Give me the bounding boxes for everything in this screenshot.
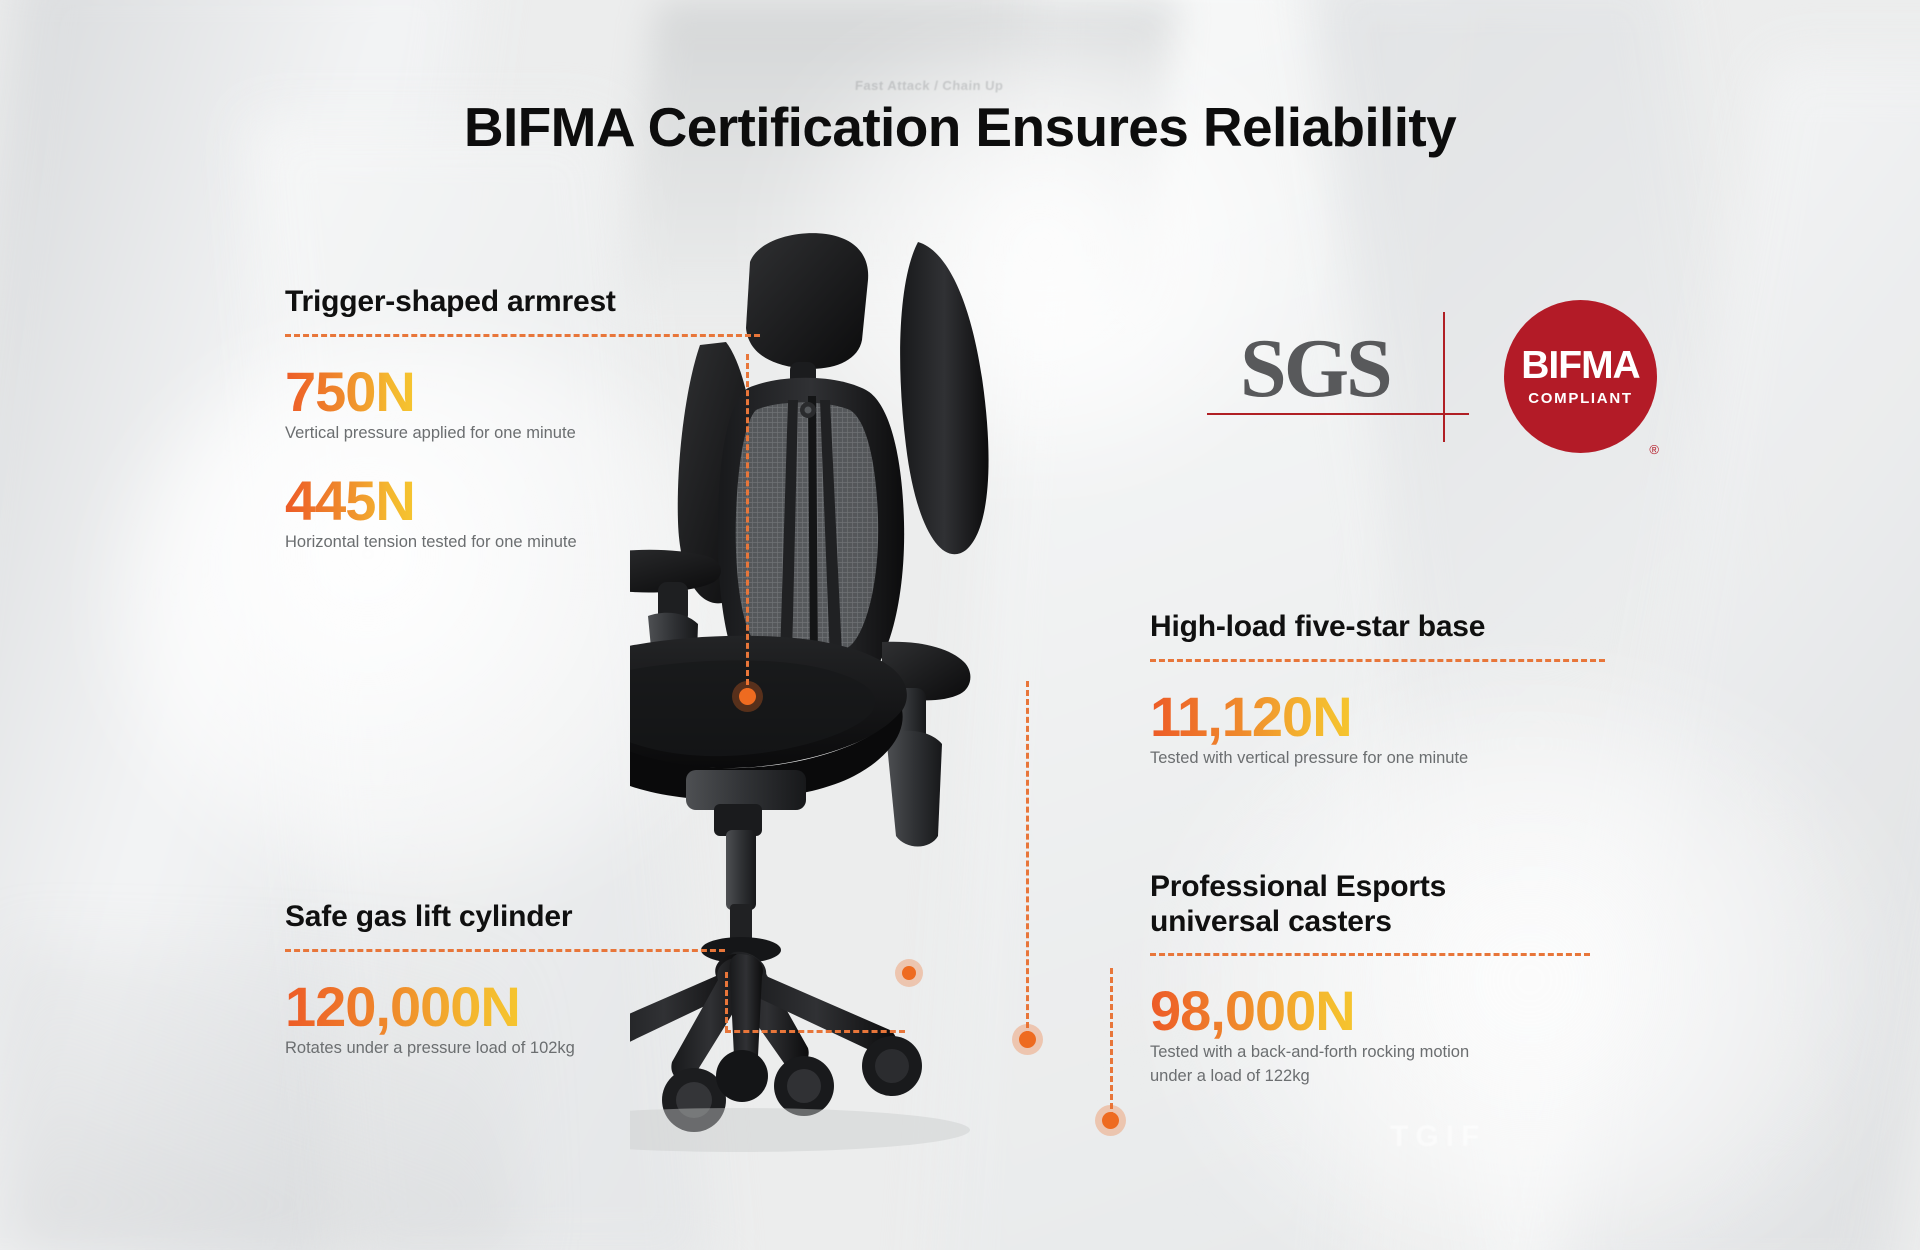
registered-trademark-icon: ® xyxy=(1649,442,1659,457)
marker-dot-gas-lift xyxy=(902,966,916,980)
stat-value: 98,000N xyxy=(1150,982,1355,1039)
callout-divider-armrest xyxy=(285,334,760,337)
page-title: BIFMA Certification Ensures Reliability xyxy=(0,95,1920,159)
background-watermark: TGIF xyxy=(1390,1120,1486,1154)
stat-value: 120,000N xyxy=(285,978,520,1035)
stat-caption: Rotates under a pressure load of 102kg xyxy=(285,1037,725,1061)
callout-heading-five-star-base: High-load five-star base xyxy=(1150,610,1605,645)
marker-dot-caster xyxy=(1102,1112,1119,1129)
sgs-logo: SGS xyxy=(1240,312,1452,442)
connector-line-five-star-base xyxy=(1026,681,1029,1037)
bifma-logo-circle: BIFMA COMPLIANT xyxy=(1504,300,1657,453)
stat-armrest-vertical: 750N Vertical pressure applied for one m… xyxy=(285,363,760,446)
stat-caption: Vertical pressure applied for one minute xyxy=(285,422,760,446)
callout-heading-armrest: Trigger-shaped armrest xyxy=(285,285,760,320)
stat-caption: Tested with a back-and-forth rocking mot… xyxy=(1150,1041,1590,1089)
callout-five-star-base: High-load five-star base 11,120N Tested … xyxy=(1150,610,1605,771)
callout-gas-lift-cylinder: Safe gas lift cylinder 120,000N Rotates … xyxy=(285,900,725,1061)
sgs-logo-vertical-rule xyxy=(1443,312,1445,442)
callout-divider-gas-lift xyxy=(285,949,725,952)
stat-value: 750N xyxy=(285,363,415,420)
callout-armrest: Trigger-shaped armrest 750N Vertical pre… xyxy=(285,285,760,555)
bifma-logo-subtitle: COMPLIANT xyxy=(1528,390,1632,407)
stat-caption: Tested with vertical pressure for one mi… xyxy=(1150,747,1605,771)
connector-line-casters xyxy=(1110,968,1113,1118)
bifma-logo: BIFMA COMPLIANT ® xyxy=(1504,300,1657,453)
callout-heading-casters: Professional Esports universal casters xyxy=(1150,870,1590,939)
background-top-label: Fast Attack / Chain Up xyxy=(855,78,1004,93)
connector-line-gas-lift-vertical xyxy=(725,972,728,1032)
stat-value: 445N xyxy=(285,472,415,529)
stat-base-vertical: 11,120N Tested with vertical pressure fo… xyxy=(1150,688,1605,771)
sgs-logo-horizontal-rule xyxy=(1207,413,1469,415)
marker-dot-five-star-base xyxy=(1019,1031,1036,1048)
stat-value: 11,120N xyxy=(1150,688,1352,745)
bifma-logo-title: BIFMA xyxy=(1521,346,1639,385)
sgs-logo-text: SGS xyxy=(1240,320,1390,417)
certification-logos: SGS BIFMA COMPLIANT ® xyxy=(1240,300,1657,453)
stat-armrest-horizontal: 445N Horizontal tension tested for one m… xyxy=(285,472,760,555)
connector-line-gas-lift-horizontal xyxy=(725,1030,905,1033)
stat-caster-rocking: 98,000N Tested with a back-and-forth roc… xyxy=(1150,982,1590,1089)
stat-gas-lift-rotation: 120,000N Rotates under a pressure load o… xyxy=(285,978,725,1061)
callout-divider-casters xyxy=(1150,953,1590,956)
marker-dot-armrest xyxy=(739,688,756,705)
callout-heading-gas-lift: Safe gas lift cylinder xyxy=(285,900,725,935)
stat-caption: Horizontal tension tested for one minute xyxy=(285,531,760,555)
callout-universal-casters: Professional Esports universal casters 9… xyxy=(1150,870,1590,1089)
callout-divider-five-star-base xyxy=(1150,659,1605,662)
